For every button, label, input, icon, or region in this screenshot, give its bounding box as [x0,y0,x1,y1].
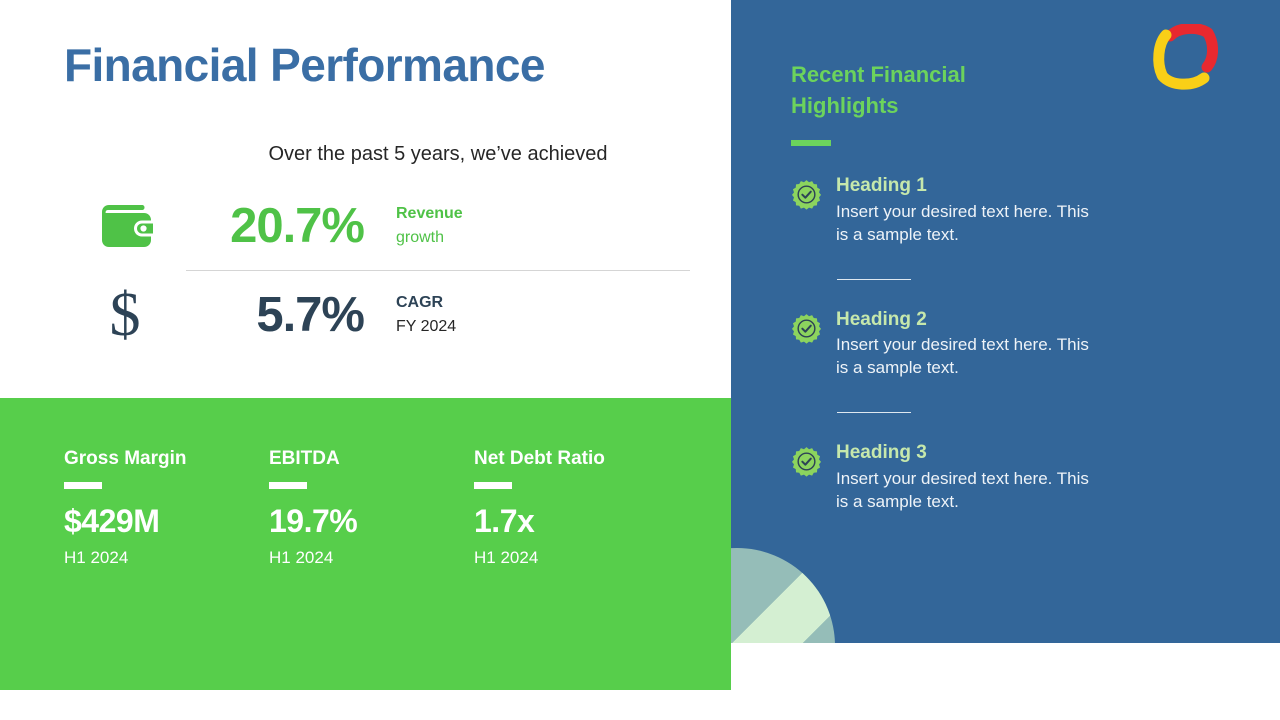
highlight-body: Insert your desired text here. This is a… [836,201,1096,247]
kpi-underline-bar [64,482,102,489]
kpi-title: Gross Margin [64,448,269,470]
kpi-period: H1 2024 [474,548,679,568]
highlight-item: Heading 3 Insert your desired text here.… [791,441,1221,514]
highlights-panel: Recent Financial Highlights [731,0,1280,643]
kpi-panel: Gross Margin $429M H1 2024 EBITDA 19.7% … [0,398,731,690]
stat-row-revenue-growth: 20.7% Revenue growth [64,182,694,270]
highlight-divider [837,279,911,280]
ring-logo-icon [1146,24,1218,96]
highlight-title: Heading 3 [836,441,1221,465]
highlight-body: Insert your desired text here. This is a… [836,334,1096,380]
highlights-list: Heading 1 Insert your desired text here.… [791,174,1221,514]
kpi-card: Gross Margin $429M H1 2024 [64,448,269,568]
wallet-icon [96,203,154,249]
stat-value: 5.7% [186,291,364,340]
dollar-sign-icon: $ [110,284,141,346]
kpi-period: H1 2024 [269,548,474,568]
stat-value: 20.7% [186,202,364,251]
stat-icon-cell [64,203,186,249]
verified-badge-icon [791,446,822,482]
kpi-card: EBITDA 19.7% H1 2024 [269,448,474,568]
stats-block: 20.7% Revenue growth $ 5.7% CAGR FY 2024 [64,182,694,359]
kpi-title: Net Debt Ratio [474,448,679,470]
stat-label-top: CAGR [396,291,456,315]
stat-row-cagr: $ 5.7% CAGR FY 2024 [64,271,694,359]
kpi-title: EBITDA [269,448,474,470]
panel-heading: Recent Financial Highlights [791,59,1051,121]
highlight-divider [837,412,911,413]
highlight-item: Heading 2 Insert your desired text here.… [791,308,1221,381]
highlight-text: Heading 1 Insert your desired text here.… [836,174,1221,247]
kpi-underline-bar [474,482,512,489]
stat-label: CAGR FY 2024 [396,291,456,338]
highlight-title: Heading 2 [836,308,1221,332]
kpi-value: 19.7% [269,505,474,537]
verified-badge-icon [791,179,822,215]
page-title: Financial Performance [64,38,545,92]
subtitle-text: Over the past 5 years, we’ve achieved [186,143,690,166]
highlight-item: Heading 1 Insert your desired text here.… [791,174,1221,247]
stat-label-top: Revenue [396,202,463,226]
stat-icon-cell: $ [64,284,186,346]
kpi-period: H1 2024 [64,548,269,568]
stat-label-bottom: growth [396,226,463,250]
highlight-text: Heading 2 Insert your desired text here.… [836,308,1221,381]
decorative-light-wedge [731,548,835,643]
panel-heading-underline [791,140,831,146]
kpi-value: 1.7x [474,505,679,537]
slide-canvas: Financial Performance Over the past 5 ye… [0,0,1280,720]
verified-badge-icon [791,313,822,349]
highlight-text: Heading 3 Insert your desired text here.… [836,441,1221,514]
kpi-list: Gross Margin $429M H1 2024 EBITDA 19.7% … [64,448,679,568]
kpi-card: Net Debt Ratio 1.7x H1 2024 [474,448,679,568]
highlight-body: Insert your desired text here. This is a… [836,468,1096,514]
highlight-title: Heading 1 [836,174,1221,198]
kpi-underline-bar [269,482,307,489]
stat-label-bottom: FY 2024 [396,315,456,339]
kpi-value: $429M [64,505,269,537]
stat-label: Revenue growth [396,202,463,249]
